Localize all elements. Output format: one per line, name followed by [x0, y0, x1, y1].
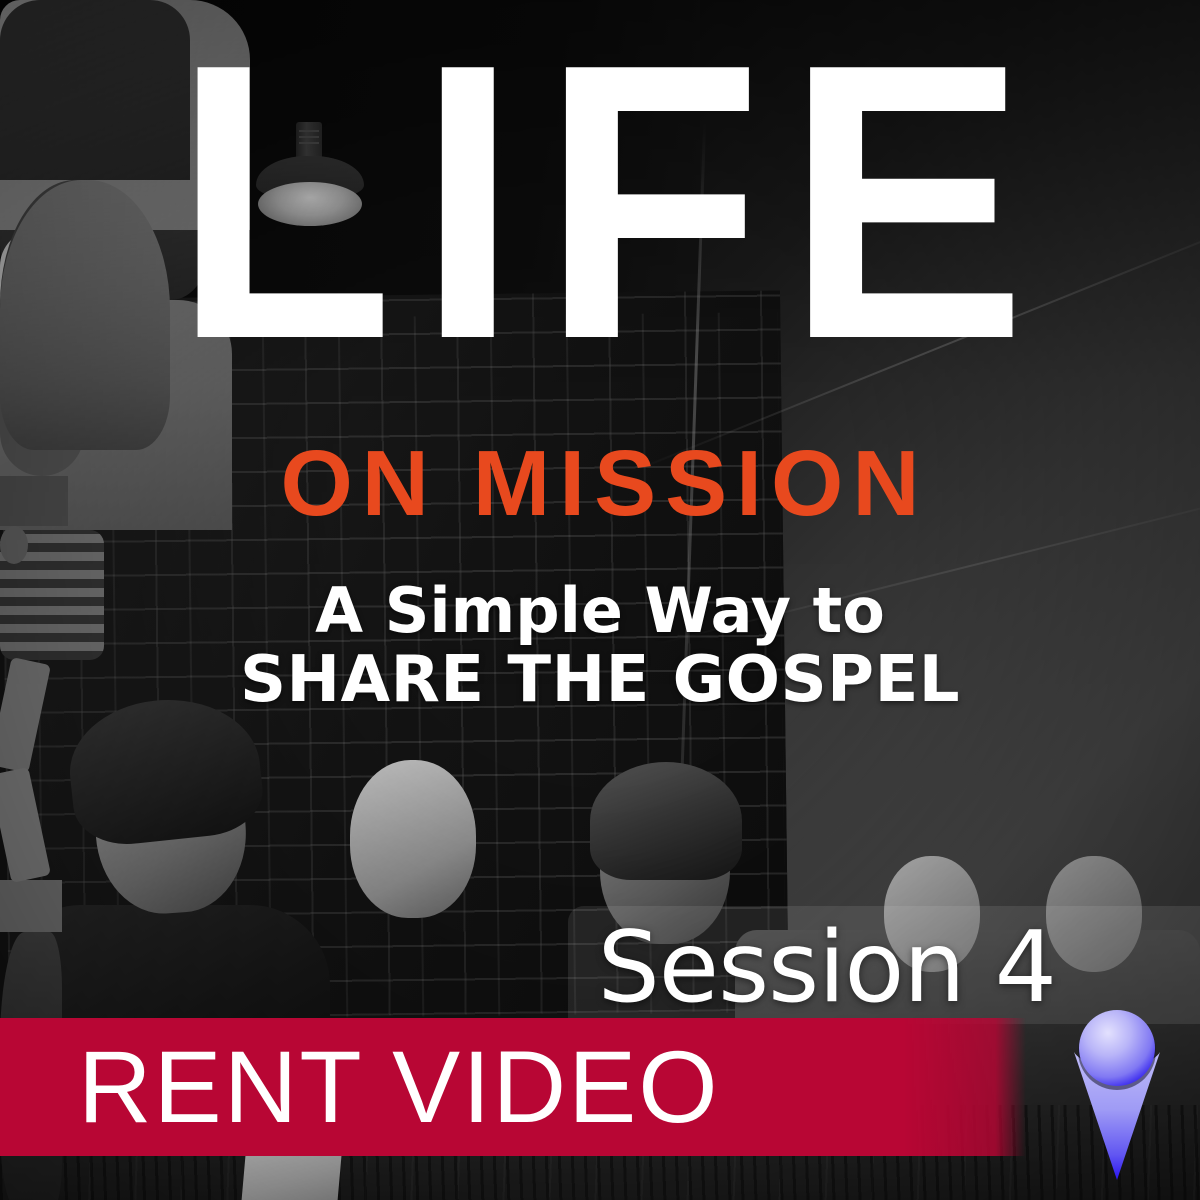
session-label: Session 4 — [568, 908, 1128, 1028]
subtitle: ON MISSION — [0, 430, 1200, 537]
page-title: LIFE — [48, 30, 1152, 375]
map-pin-icon[interactable] — [1062, 1010, 1172, 1182]
hair — [590, 762, 742, 880]
head — [350, 760, 476, 918]
tagline-line-2: SHARE THE GOSPEL — [0, 645, 1200, 717]
rent-video-button[interactable]: RENT VIDEO — [0, 1018, 1026, 1156]
lapel-right — [0, 767, 51, 883]
rent-video-label: RENT VIDEO — [78, 1029, 720, 1146]
product-card: LIFE ON MISSION A Simple Way to SHARE TH… — [0, 0, 1200, 1200]
tagline: A Simple Way to SHARE THE GOSPEL — [0, 576, 1200, 717]
tagline-line-1: A Simple Way to — [0, 576, 1200, 645]
neck — [0, 880, 62, 932]
